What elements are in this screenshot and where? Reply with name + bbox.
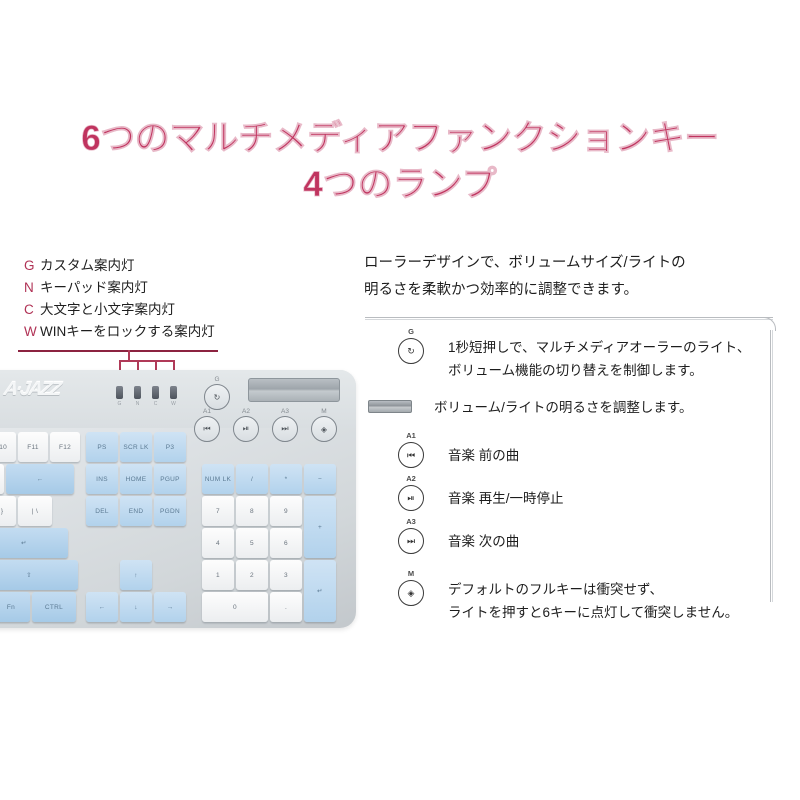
feature-row-a2: A2 ⏯ 音楽 再生/一時停止 <box>396 483 564 510</box>
feature-row-g: G ↻ 1秒短押しで、マルチメディアオーラーのライト、 ボリューム機能の切り替え… <box>396 336 750 382</box>
keycap[interactable]: Fn <box>0 592 30 622</box>
product-infographic-page: 6つのマルチメディアファンクションキー 4つのランプ G カスタム案内灯 N キ… <box>0 0 800 800</box>
keycap[interactable]: INS <box>86 464 118 494</box>
keycap[interactable]: ↑ <box>120 560 152 590</box>
keycap[interactable]: ← <box>6 464 74 494</box>
keycap[interactable]: ↵ <box>0 528 68 558</box>
feature-text-m: デフォルトのフルキーは衝突せず、 ライトを押すと6キーに点灯して衝突しません。 <box>440 578 738 624</box>
keyboard-media-cap-a3: A3 <box>272 408 298 415</box>
keyboard-media-key-a3[interactable]: ⏭ <box>272 416 298 442</box>
feature-text-roller: ボリューム/ライトの明るさを調整します。 <box>420 396 693 419</box>
keycap[interactable]: + <box>304 496 336 558</box>
feature-text-a2: 音楽 再生/一時停止 <box>440 483 564 510</box>
keycap[interactable]: 4 <box>202 528 234 558</box>
legend-label-w: WINキーをロックする案内灯 <box>40 321 215 343</box>
feature-text-line: ボリューム機能の切り替えを制御します。 <box>448 359 750 382</box>
keycap[interactable]: 7 <box>202 496 234 526</box>
page-title-line-1: 6つのマルチメディアファンクションキー <box>0 116 800 162</box>
keycap[interactable]: END <box>120 496 152 526</box>
feature-text-line: 音楽 再生/一時停止 <box>448 487 564 510</box>
keycap[interactable]: DEL <box>86 496 118 526</box>
keyboard-media-cap-m: M <box>311 408 337 415</box>
feature-text-a1: 音楽 前の曲 <box>440 440 519 467</box>
legend-item: G カスタム案内灯 <box>24 255 264 277</box>
keycap[interactable]: | \ <box>18 496 52 526</box>
keycap[interactable]: SCR LK <box>120 432 152 462</box>
feature-text-line: ライトを押すと6キーに点灯して衝突しません。 <box>448 601 738 624</box>
led-legend: G カスタム案内灯 N キーパッド案内灯 C 大文字と小文字案内灯 W WINキ… <box>24 255 264 343</box>
next-track-icon[interactable]: ⏭ <box>398 528 424 554</box>
feature-cap-a1: A1 <box>396 431 426 440</box>
divider-corner <box>764 317 776 331</box>
feature-cap-a2: A2 <box>396 474 426 483</box>
brand-logo: A·JAZZ <box>2 379 61 401</box>
keycap[interactable]: NUM LK <box>202 464 234 494</box>
page-title-line-2: 4つのランプ <box>0 162 800 208</box>
led-label-w: W <box>170 401 177 407</box>
intro-paragraph: ローラーデザインで、ボリュームサイズ/ライトの 明るさを柔軟かつ効率的に調整でき… <box>364 250 784 304</box>
keyboard-photo: A·JAZZ G N C W G ↻ A1 ⏮ A2 ⏯ A3 ⏭ M ◈ F1… <box>0 370 356 628</box>
keyboard-media-cap-a2: A2 <box>233 408 259 415</box>
feature-cap-m: M <box>396 569 426 578</box>
keycap[interactable]: 2 <box>236 560 268 590</box>
led-indicator-n <box>134 386 141 399</box>
legend-underline <box>18 350 218 352</box>
keycap[interactable]: . <box>270 592 302 622</box>
keycap[interactable]: ↵ <box>304 560 336 622</box>
keyboard-media-cap-a1: A1 <box>194 408 220 415</box>
feature-text-line: デフォルトのフルキーは衝突せず、 <box>448 578 738 601</box>
keycap[interactable]: 1 <box>202 560 234 590</box>
led-label-c: C <box>152 401 159 407</box>
keycap[interactable]: ↓ <box>120 592 152 622</box>
legend-key-n: N <box>24 277 40 299</box>
legend-key-g: G <box>24 255 40 277</box>
keycap[interactable]: 0 <box>202 592 268 622</box>
legend-item: N キーパッド案内灯 <box>24 277 264 299</box>
keyboard-media-key-m[interactable]: ◈ <box>311 416 337 442</box>
legend-item: C 大文字と小文字案内灯 <box>24 299 264 321</box>
legend-connector-bar <box>119 360 175 362</box>
keycap[interactable]: 6 <box>270 528 302 558</box>
led-indicator-c <box>152 386 159 399</box>
roller-bar-icon[interactable] <box>368 400 412 413</box>
keycap[interactable]: 5 <box>236 528 268 558</box>
feature-cap-g: G <box>396 327 426 336</box>
keycap[interactable]: 9 <box>270 496 302 526</box>
feature-text-line: 音楽 次の曲 <box>448 530 519 553</box>
keycap[interactable]: 8 <box>236 496 268 526</box>
feature-row-a1: A1 ⏮ 音楽 前の曲 <box>396 440 519 467</box>
feature-row-roller: ボリューム/ライトの明るさを調整します。 <box>368 396 693 419</box>
divider-horizontal <box>365 317 773 320</box>
divider-vertical <box>770 330 773 602</box>
keycap[interactable]: / <box>236 464 268 494</box>
feature-text-line: 音楽 前の曲 <box>448 444 519 467</box>
keycap[interactable]: F11 <box>18 432 48 462</box>
keycap[interactable]: CTRL <box>32 592 76 622</box>
keyboard-media-key-a1[interactable]: ⏮ <box>194 416 220 442</box>
keycap[interactable]: → <box>154 592 186 622</box>
feature-row-a3: A3 ⏭ 音楽 次の曲 <box>396 526 519 553</box>
refresh-cycle-icon[interactable]: ↻ <box>398 338 424 364</box>
led-indicator-g <box>116 386 123 399</box>
keycap[interactable]: PS <box>86 432 118 462</box>
keyboard-media-key-a2[interactable]: ⏯ <box>233 416 259 442</box>
feature-row-m: M ◈ デフォルトのフルキーは衝突せず、 ライトを押すと6キーに点灯して衝突しま… <box>396 578 738 624</box>
play-pause-icon[interactable]: ⏯ <box>398 485 424 511</box>
keycap[interactable]: F12 <box>50 432 80 462</box>
keycap[interactable]: PGDN <box>154 496 186 526</box>
keycap[interactable]: ← <box>86 592 118 622</box>
legend-key-w: W <box>24 321 40 343</box>
led-label-n: N <box>134 401 141 407</box>
keyboard-media-key-g[interactable]: ↻ <box>204 384 230 410</box>
volume-roller[interactable] <box>248 378 340 402</box>
legend-key-c: C <box>24 299 40 321</box>
keycap[interactable]: PGUP <box>154 464 186 494</box>
led-indicator-w <box>170 386 177 399</box>
keycap[interactable]: 3 <box>270 560 302 590</box>
feature-text-line: 1秒短押しで、マルチメディアオーラーのライト、 <box>448 336 750 359</box>
page-title: 6つのマルチメディアファンクションキー 4つのランプ <box>0 116 800 208</box>
feature-text-line: ボリューム/ライトの明るさを調整します。 <box>434 396 693 419</box>
keycap[interactable]: − <box>304 464 336 494</box>
legend-label-c: 大文字と小文字案内灯 <box>40 299 175 321</box>
led-label-g: G <box>116 401 123 407</box>
legend-label-n: キーパッド案内灯 <box>40 277 148 299</box>
keyboard-media-cap-g: G <box>204 376 230 383</box>
keycap[interactable]: ⇧ <box>0 560 78 590</box>
keycap[interactable]: P3 <box>154 432 186 462</box>
keycap[interactable]: * <box>270 464 302 494</box>
feature-text-g: 1秒短押しで、マルチメディアオーラーのライト、 ボリューム機能の切り替えを制御し… <box>440 336 750 382</box>
previous-track-icon[interactable]: ⏮ <box>398 442 424 468</box>
legend-item: W WINキーをロックする案内灯 <box>24 321 264 343</box>
keycap[interactable]: = <box>0 464 4 494</box>
feature-cap-a3: A3 <box>396 517 426 526</box>
keycap[interactable]: F10 <box>0 432 16 462</box>
intro-line-2: 明るさを柔軟かつ効率的に調整できます。 <box>364 277 784 304</box>
diamond-mode-icon[interactable]: ◈ <box>398 580 424 606</box>
legend-label-g: カスタム案内灯 <box>40 255 135 277</box>
keycap[interactable]: ] } <box>0 496 16 526</box>
intro-line-1: ローラーデザインで、ボリュームサイズ/ライトの <box>364 250 784 277</box>
keycap[interactable]: HOME <box>120 464 152 494</box>
feature-text-a3: 音楽 次の曲 <box>440 526 519 553</box>
